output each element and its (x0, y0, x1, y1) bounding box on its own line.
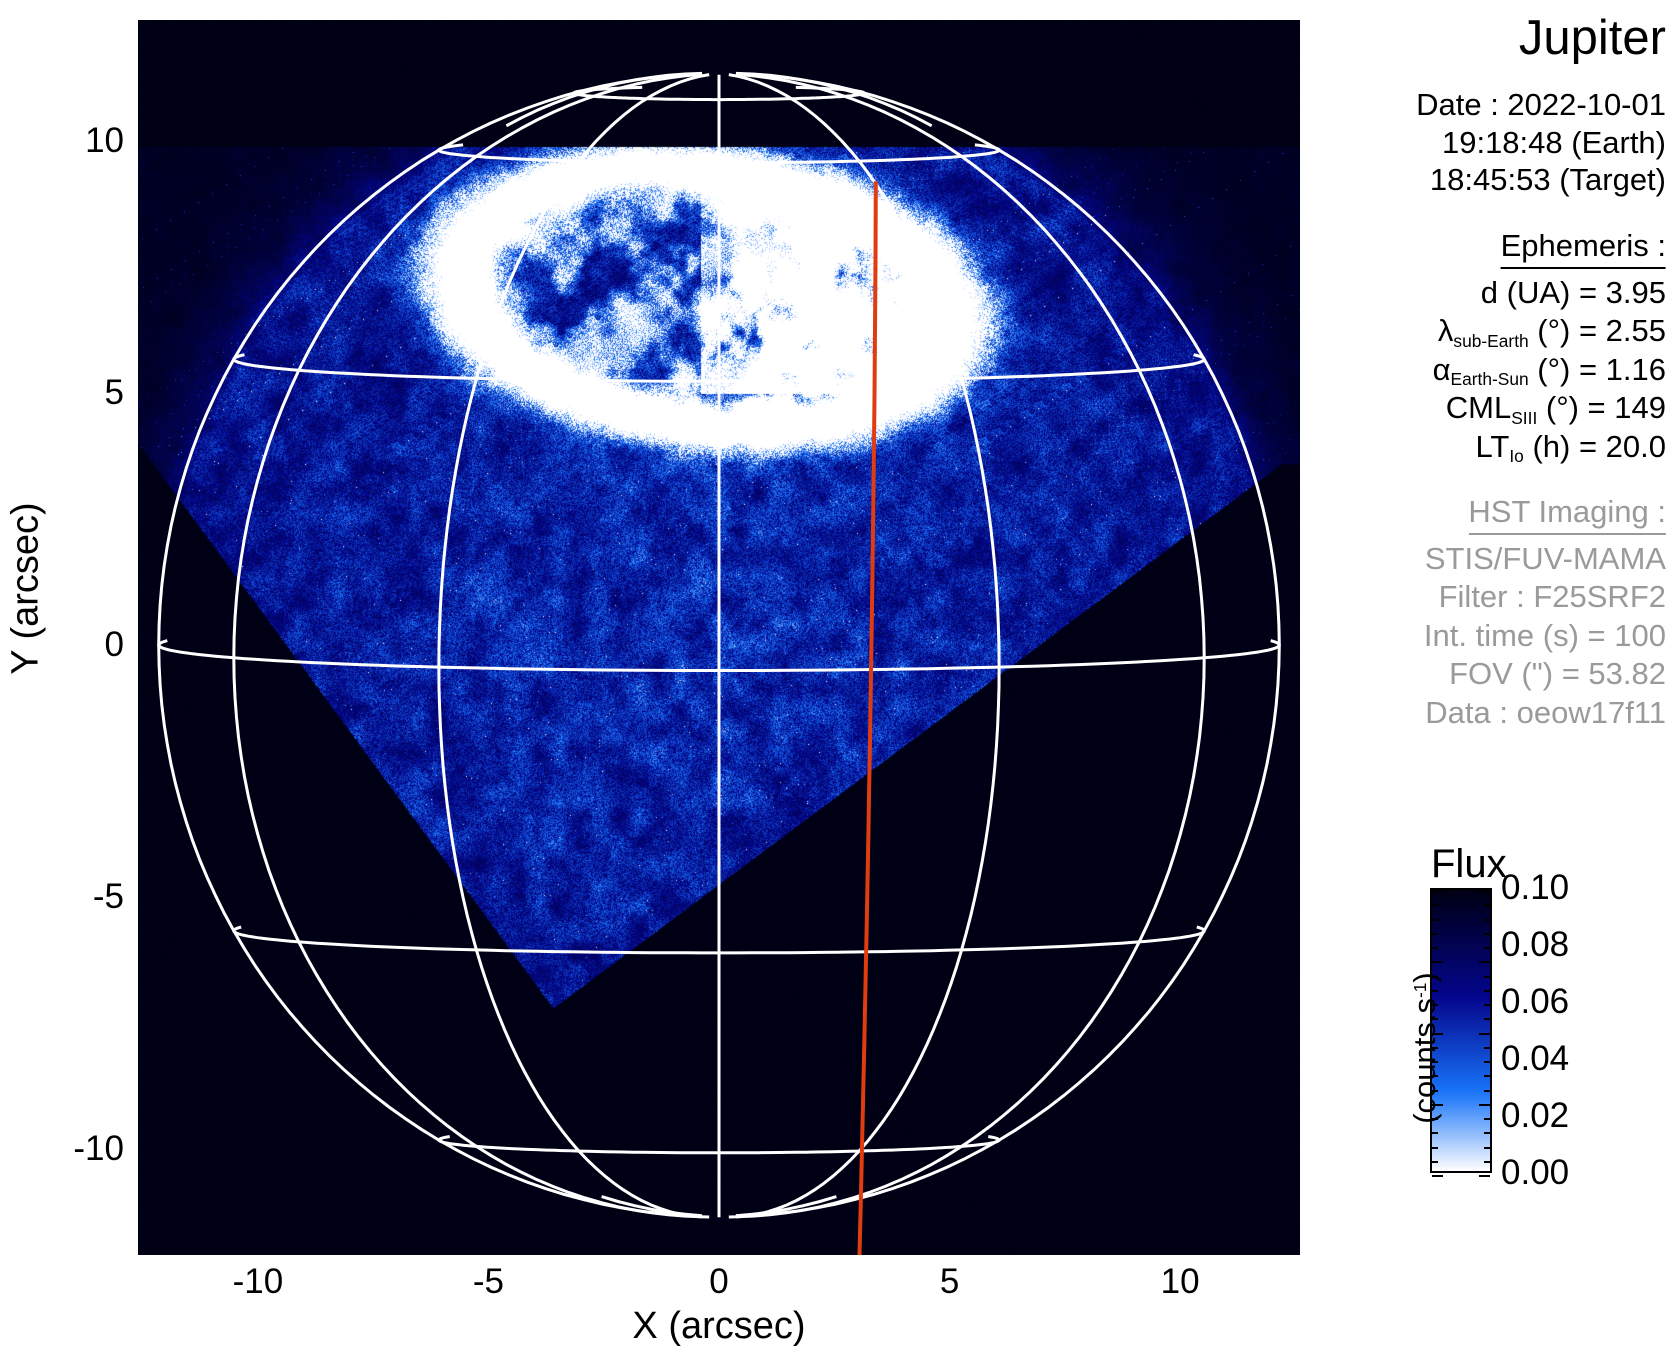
colorbar-tick-mark (1484, 933, 1490, 935)
grid-line (739, 74, 1280, 1217)
colorbar-tick-mark (1484, 1090, 1490, 1092)
colorbar-tick-mark (1432, 904, 1438, 906)
grid-line (234, 74, 702, 1216)
x-axis-title: X (arcsec) (138, 1305, 1300, 1348)
colorbar-tick-mark (1484, 947, 1490, 949)
colorbar-tick-mark (1484, 1004, 1490, 1006)
planet-grid-overlay (138, 20, 1300, 1255)
x-tick-m5: -5 (473, 1262, 504, 1302)
x-tick-m10: -10 (233, 1262, 284, 1302)
colorbar-tick-mark (1484, 919, 1490, 921)
colorbar-tick-mark (1484, 990, 1490, 992)
aurora-image-plot (138, 20, 1300, 1255)
colorbar-ticklabels: 0.100.080.060.040.020.00 (1501, 888, 1651, 1173)
y-tick-10: 10 (85, 121, 124, 161)
colorbar-tick-mark (1479, 1104, 1490, 1106)
info-panel: Jupiter Date : 2022-10-01 19:18:48 (Eart… (1305, 0, 1671, 1367)
colorbar-tick-mark (1432, 890, 1443, 892)
colorbar-tick-mark (1484, 904, 1490, 906)
colorbar-tick-mark (1484, 1075, 1490, 1077)
colorbar-tick-0-04: 0.04 (1501, 1039, 1569, 1079)
grid-line (439, 75, 709, 1217)
x-tick-0: 0 (709, 1262, 728, 1302)
colorbar-tick-mark (1479, 961, 1490, 963)
y-tick-m10: -10 (73, 1129, 124, 1169)
colorbar-tick-mark (1484, 1118, 1490, 1120)
colorbar-tick-0-06: 0.06 (1501, 982, 1569, 1022)
y-axis-title: Y (arcsec) (5, 459, 48, 719)
colorbar-tick-mark (1484, 1047, 1490, 1049)
colorbar-tick-mark (1484, 1161, 1490, 1163)
colorbar-tick-0-02: 0.02 (1501, 1096, 1569, 1136)
y-tick-m5: -5 (93, 877, 124, 917)
y-tick-5: 5 (105, 373, 124, 413)
x-tick-10: 10 (1161, 1262, 1200, 1302)
central-meridian-line (859, 181, 875, 1255)
colorbar-tick-mark (1484, 1061, 1490, 1063)
colorbar-tick-mark (1479, 1033, 1490, 1035)
colorbar-tick-mark (1479, 1175, 1490, 1177)
colorbar-tick-mark (1479, 890, 1490, 892)
colorbar-title: Flux (1431, 842, 1507, 887)
planetographic-gridlines (159, 73, 1280, 1217)
grid-line (159, 74, 700, 1217)
colorbar-tick-0-10: 0.10 (1501, 868, 1569, 908)
y-tick-0: 0 (105, 625, 124, 665)
x-tick-5: 5 (940, 1262, 959, 1302)
colorbar-tick-mark (1484, 976, 1490, 978)
colorbar-tick-mark (1484, 1132, 1490, 1134)
grid-line (736, 74, 1204, 1216)
colorbar-tick-0-00: 0.00 (1501, 1153, 1569, 1193)
colorbar-tick-mark (1484, 1147, 1490, 1149)
colorbar-tick-0-08: 0.08 (1501, 925, 1569, 965)
colorbar-group: Flux 0.100.080.060.040.020.00 (counts.s-… (1305, 0, 1671, 1367)
colorbar-tick-mark (1484, 1018, 1490, 1020)
colorbar-axis-title: (counts.s-1) (1407, 918, 1443, 1178)
